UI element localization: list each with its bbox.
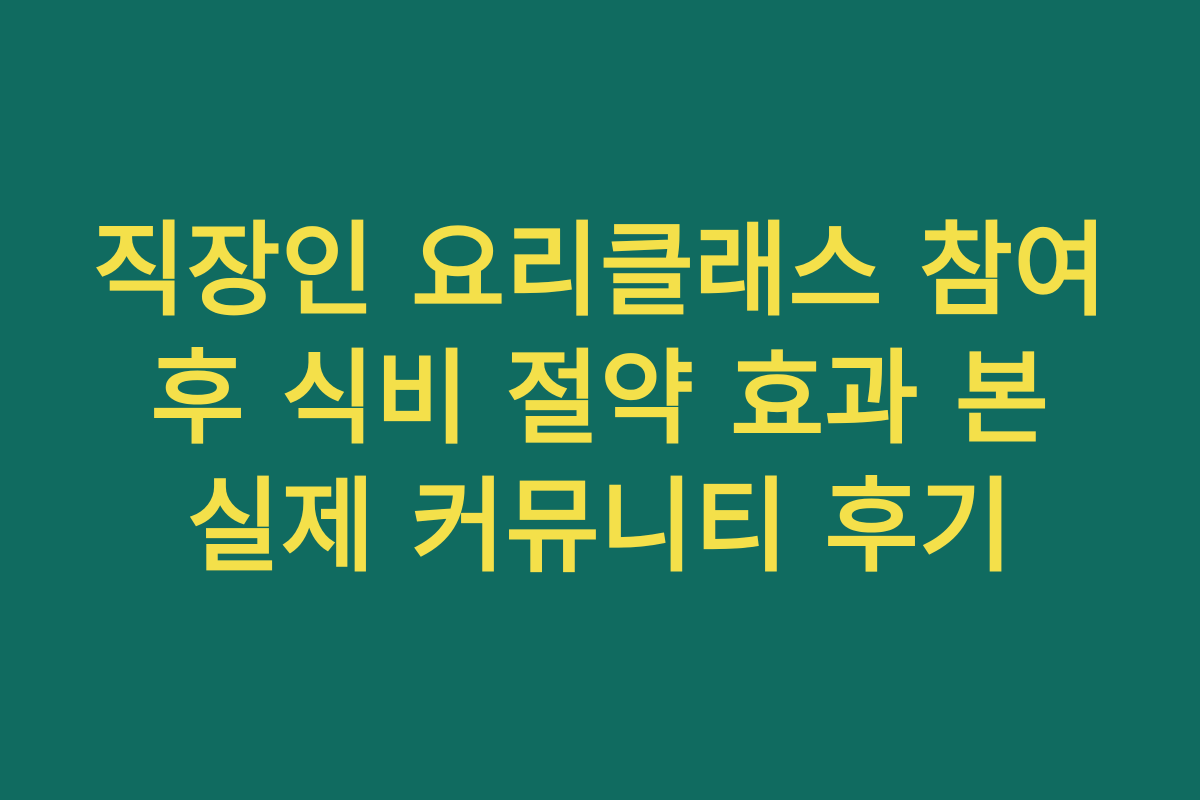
headline-block: 직장인 요리클래스 참여 후 식비 절약 효과 본 실제 커뮤니티 후기 (70, 208, 1130, 592)
thumbnail-canvas: 직장인 요리클래스 참여 후 식비 절약 효과 본 실제 커뮤니티 후기 (0, 0, 1200, 800)
page-title: 직장인 요리클래스 참여 후 식비 절약 효과 본 실제 커뮤니티 후기 (80, 208, 1120, 592)
